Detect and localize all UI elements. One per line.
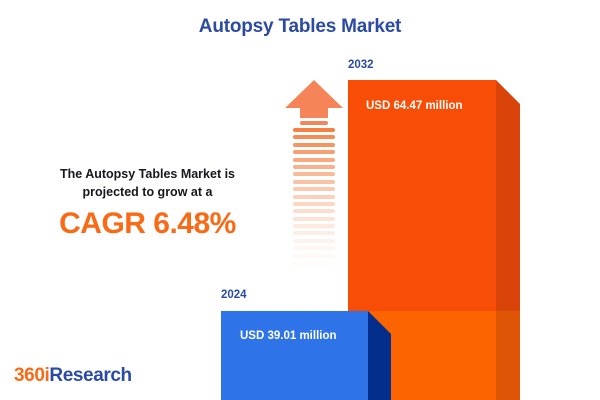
- arrow-rung: [293, 150, 335, 154]
- bar-2024-front-face: [221, 311, 368, 400]
- bar-2024: USD 39.01 million: [221, 311, 391, 400]
- cagr-statement-line-1: The Autopsy Tables Market is: [60, 167, 235, 181]
- arrow-rung: [293, 268, 335, 272]
- arrow-rung: [293, 202, 335, 206]
- arrow-rung: [293, 239, 335, 243]
- arrow-rung: [293, 209, 335, 213]
- arrow-rung: [293, 128, 335, 132]
- brand-logo: 360iResearch: [14, 365, 132, 387]
- arrow-rung: [293, 231, 335, 235]
- arrow-rung: [293, 143, 335, 147]
- arrow-rung: [293, 246, 335, 250]
- arrow-rung: [293, 135, 335, 139]
- arrow-rung: [293, 187, 335, 191]
- arrow-rung: [293, 195, 335, 199]
- bar-value-label-2024: USD 39.01 million: [240, 330, 337, 342]
- page-title: Autopsy Tables Market: [0, 16, 600, 38]
- arrow-head-icon: [283, 78, 345, 125]
- arrow-rung: [293, 261, 335, 265]
- arrow-rung: [293, 158, 335, 162]
- cagr-statement-block: The Autopsy Tables Market is projected t…: [20, 165, 275, 240]
- arrow-rung: [293, 254, 335, 258]
- brand-logo-research: Research: [49, 365, 131, 386]
- arrow-rung-stack: [293, 128, 335, 290]
- bar-year-label-2024: 2024: [221, 289, 247, 301]
- arrow-rung: [293, 172, 335, 176]
- brand-logo-360i: 360i: [14, 365, 49, 386]
- cagr-value: CAGR 6.48%: [20, 207, 275, 240]
- arrow-rung: [293, 217, 335, 221]
- cagr-statement-text: The Autopsy Tables Market is projected t…: [20, 165, 275, 201]
- cagr-statement-line-2: projected to grow at a: [83, 185, 213, 199]
- bar-2032-side-face-lower: [496, 311, 520, 400]
- bar-2024-side-face: [368, 311, 391, 400]
- bar-year-label-2032: 2032: [348, 59, 374, 71]
- arrow-rung: [293, 180, 335, 184]
- bar-value-label-2032: USD 64.47 million: [366, 100, 463, 112]
- arrow-rung: [293, 165, 335, 169]
- arrow-rung: [293, 224, 335, 228]
- up-arrow-growth-icon: [283, 78, 345, 290]
- infographic-canvas: Autopsy Tables Market The Autopsy Tables…: [0, 0, 600, 400]
